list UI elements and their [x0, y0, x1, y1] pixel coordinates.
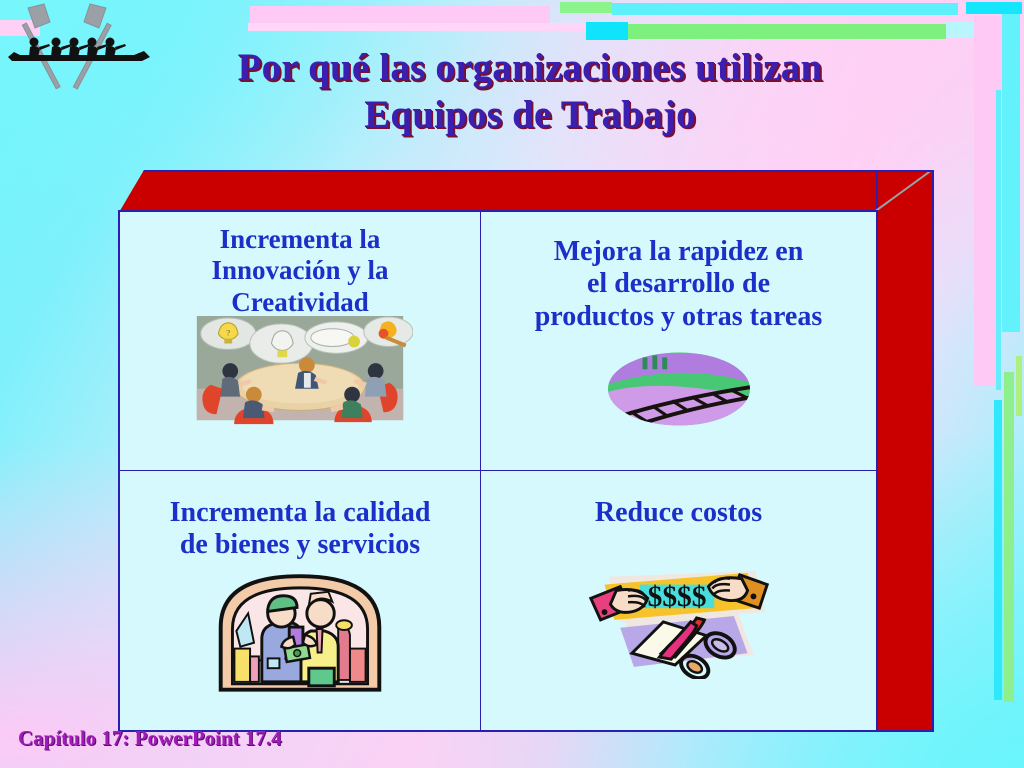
scissors-cutting-dollars-clipart: $$$$ [481, 551, 876, 730]
table-3d-corner-edge [874, 172, 934, 216]
decor-stripe-green-vertical [1004, 372, 1014, 702]
decor-bar-pink-top [250, 6, 550, 23]
railroad-track-oval-clipart [481, 349, 876, 470]
decor-stripe-green-short [1016, 356, 1022, 416]
decor-bar-green-small [560, 2, 612, 13]
decor-bar-pink-top-2 [248, 23, 620, 31]
benefits-table: Incrementa la Innovación y la Creativida… [118, 170, 934, 732]
cell-label-costos: Reduce costos [595, 481, 762, 529]
shop-transaction-icon [207, 566, 393, 694]
svg-text:?: ? [226, 328, 230, 338]
table-3d-right-face [876, 170, 934, 732]
decor-stripe-cyan-lower [994, 400, 1002, 700]
decor-bar-cyan-long [612, 3, 958, 15]
cell-label-innovacion: Incrementa la Innovación y la Creativida… [211, 222, 388, 318]
shop-customer-transaction-clipart [120, 566, 480, 730]
svg-text:$$$$: $$$$ [647, 582, 706, 614]
slide-footer: Capítulo 17: PowerPoint 17.4 [18, 726, 282, 751]
slide: Por qué las organizaciones utilizan Equi… [0, 0, 1024, 768]
table-cell-innovacion[interactable]: Incrementa la Innovación y la Creativida… [120, 212, 481, 471]
decor-bar-green-long [628, 24, 946, 39]
table-cell-calidad[interactable]: Incrementa la calidad de bienes y servic… [120, 471, 481, 730]
table-cell-costos[interactable]: Reduce costos [481, 471, 876, 730]
slide-title-line-2: Equipos de Trabajo [150, 91, 910, 138]
team-meeting-icon: ? [187, 314, 413, 430]
decor-stripe-cyan-thin [996, 90, 1001, 390]
decor-stripe-cyan-vertical [1002, 14, 1020, 332]
cell-label-calidad: Incrementa la calidad de bienes y servic… [170, 481, 431, 562]
cut-costs-icon: $$$$ [581, 551, 777, 679]
table-grid: Incrementa la Innovación y la Creativida… [118, 210, 878, 732]
cell-label-rapidez: Mejora la rapidez en el desarrollo de pr… [481, 222, 876, 333]
decor-bar-cyan-block [586, 22, 628, 40]
table-cell-rapidez[interactable]: Mejora la rapidez en el desarrollo de pr… [481, 212, 876, 471]
slide-title: Por qué las organizaciones utilizan Equi… [150, 44, 910, 138]
team-meeting-lightbulbs-clipart: ? [120, 314, 480, 470]
table-3d-top-face [118, 170, 934, 214]
railroad-track-icon [605, 349, 753, 429]
decor-bar-cyan-right [966, 2, 1022, 14]
rowing-crew-logo [4, 2, 154, 102]
crossed-oars-icon [4, 2, 154, 102]
slide-title-line-1: Por qué las organizaciones utilizan [150, 44, 910, 91]
